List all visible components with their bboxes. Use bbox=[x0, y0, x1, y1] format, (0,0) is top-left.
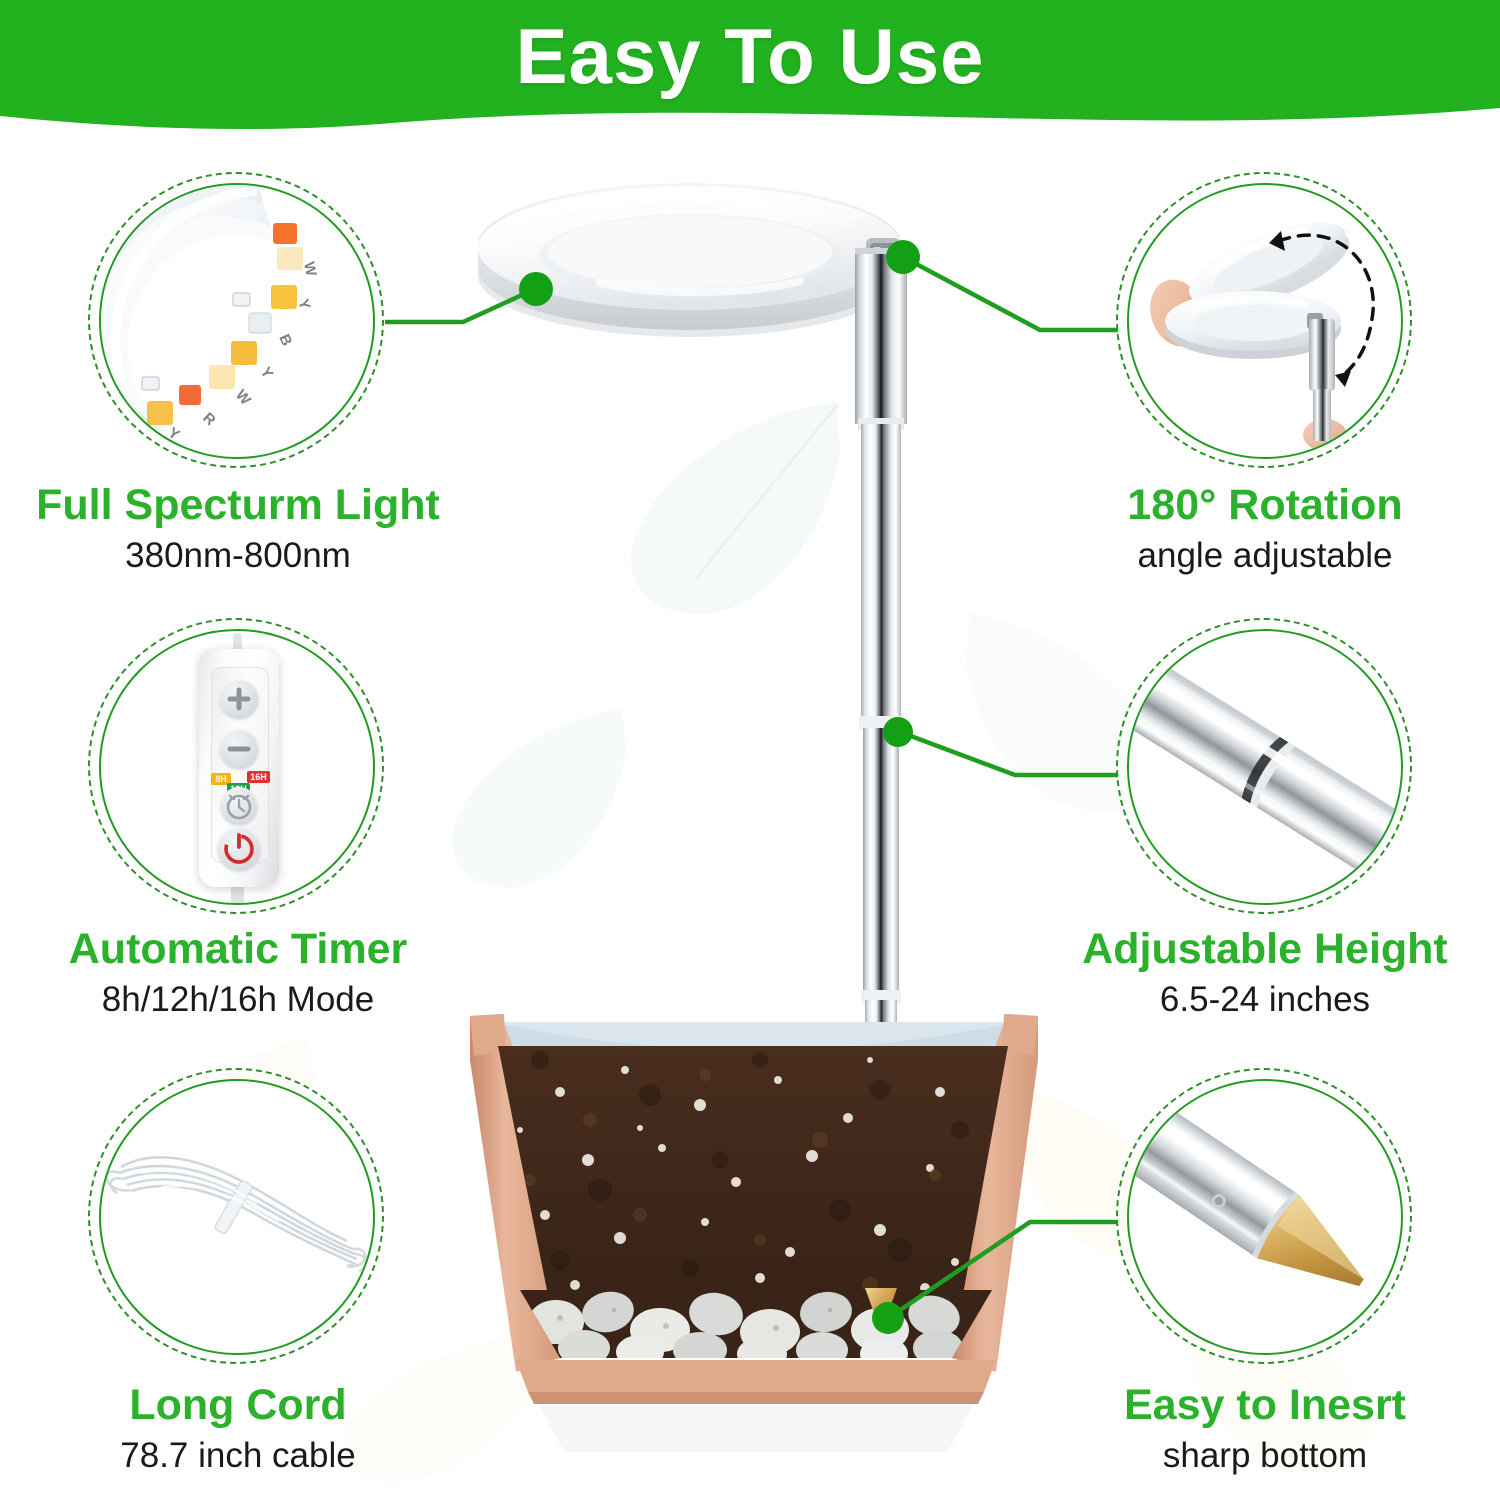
feature-title: Adjustable Height bbox=[1035, 922, 1495, 976]
caption-adjustable-height: Adjustable Height 6.5-24 inches bbox=[1035, 922, 1495, 1024]
circle-solid-border: 8H 16H 12H bbox=[99, 629, 375, 905]
caption-long-cord: Long Cord 78.7 inch cable bbox=[8, 1378, 468, 1480]
circle-solid-border bbox=[1127, 629, 1403, 905]
feature-title: Long Cord bbox=[8, 1378, 468, 1432]
pole-gold-tip bbox=[865, 1288, 897, 1332]
feature-subtitle: 8h/12h/16h Mode bbox=[8, 976, 468, 1024]
svg-text:B: B bbox=[275, 332, 295, 349]
header-banner: Easy To Use bbox=[0, 0, 1500, 140]
lamp-head bbox=[478, 183, 902, 337]
callout-line-adjustable-height bbox=[900, 732, 1118, 775]
icon-led-ring-closeup: W Y B Y W R Y bbox=[101, 185, 373, 457]
callout-line-rotation bbox=[905, 258, 1118, 330]
brightness-up-button[interactable] bbox=[219, 679, 259, 719]
icon-coiled-clear-cable bbox=[101, 1081, 373, 1353]
caption-easy-to-insert: Easy to Inesrt sharp bottom bbox=[1035, 1378, 1495, 1480]
feature-title: Automatic Timer bbox=[8, 922, 468, 976]
power-button[interactable] bbox=[217, 827, 261, 871]
feature-full-spectrum-light: W Y B Y W R Y bbox=[88, 172, 388, 472]
icon-gold-sharp-tip bbox=[1129, 1081, 1401, 1353]
svg-text:W: W bbox=[300, 260, 320, 278]
feature-title: Easy to Inesrt bbox=[1035, 1378, 1495, 1432]
feature-title: Full Specturm Light bbox=[8, 478, 468, 532]
plant-pot bbox=[470, 1014, 1038, 1452]
feature-title: 180° Rotation bbox=[1035, 478, 1495, 532]
svg-text:R: R bbox=[199, 409, 219, 429]
leaf-watermark bbox=[600, 390, 860, 640]
caption-automatic-timer: Automatic Timer 8h/12h/16h Mode bbox=[8, 922, 468, 1024]
icon-telescoping-pole-joint bbox=[1129, 631, 1401, 903]
svg-text:Y: Y bbox=[294, 297, 313, 312]
icon-hand-rotating-lamp-head bbox=[1129, 185, 1401, 457]
icon-remote-controller: 8H 16H 12H bbox=[101, 631, 373, 903]
feature-subtitle: sharp bottom bbox=[1035, 1432, 1495, 1480]
callout-line-full-spectrum bbox=[385, 289, 535, 322]
page-title: Easy To Use bbox=[0, 4, 1500, 108]
timer-indicator-16h: 16H bbox=[247, 771, 270, 783]
svg-text:Y: Y bbox=[257, 364, 277, 382]
caption-rotation: 180° Rotation angle adjustable bbox=[1035, 478, 1495, 580]
callout-line-easy-insert bbox=[890, 1222, 1118, 1317]
leaf-watermark bbox=[430, 700, 640, 900]
feature-rotation bbox=[1116, 172, 1416, 472]
circle-solid-border: W Y B Y W R Y bbox=[99, 183, 375, 459]
svg-text:W: W bbox=[232, 387, 255, 409]
feature-subtitle: 6.5-24 inches bbox=[1035, 976, 1495, 1024]
feature-adjustable-height bbox=[1116, 618, 1416, 918]
callout-dot-pole-top bbox=[886, 240, 920, 274]
circle-solid-border bbox=[1127, 1079, 1403, 1355]
telescoping-pole bbox=[855, 248, 907, 1305]
drainage-pebbles bbox=[510, 1287, 1000, 1371]
callout-dot-pole-mid bbox=[883, 717, 913, 747]
timer-button[interactable] bbox=[220, 787, 258, 825]
feature-subtitle: angle adjustable bbox=[1035, 532, 1495, 580]
feature-easy-to-insert bbox=[1116, 1068, 1416, 1368]
callout-dot-tip bbox=[872, 1302, 904, 1334]
svg-text:Y: Y bbox=[165, 424, 183, 444]
callout-dot-lamp-head bbox=[519, 272, 553, 306]
brightness-down-button[interactable] bbox=[219, 729, 259, 769]
circle-solid-border bbox=[99, 1079, 375, 1355]
feature-subtitle: 78.7 inch cable bbox=[8, 1432, 468, 1480]
caption-full-spectrum-light: Full Specturm Light 380nm-800nm bbox=[8, 478, 468, 580]
lamp-hinge bbox=[866, 238, 900, 274]
feature-subtitle: 380nm-800nm bbox=[8, 532, 468, 580]
feature-long-cord bbox=[88, 1068, 388, 1368]
infographic-canvas: Easy To Use bbox=[0, 0, 1500, 1500]
circle-solid-border bbox=[1127, 183, 1403, 459]
feature-automatic-timer: 8H 16H 12H bbox=[88, 618, 388, 918]
